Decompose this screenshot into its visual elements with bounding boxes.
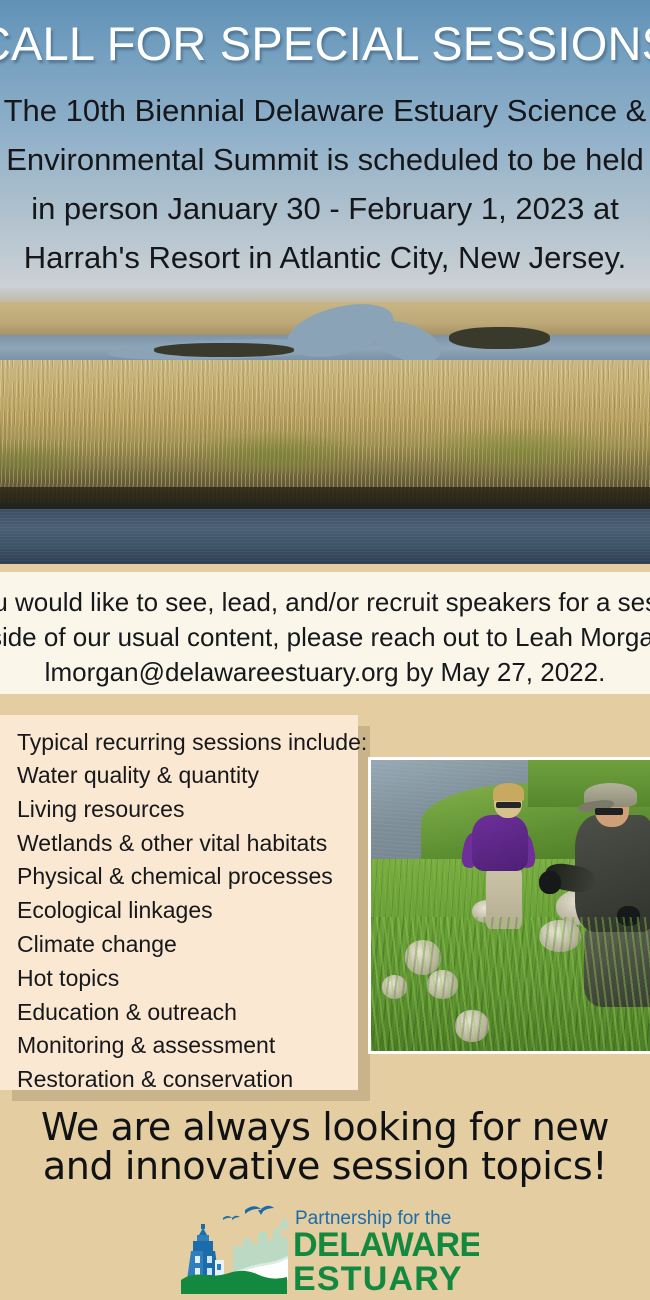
list-item: Water quality & quantity (17, 759, 357, 793)
marsh-dark-patch (449, 327, 550, 349)
partnership-delaware-estuary-logo: Partnership for the DELAWARE ESTUARY (179, 1204, 479, 1296)
tagline-line-1: We are always looking for new (0, 1108, 650, 1147)
tagline-line-2: and innovative session topics! (0, 1147, 650, 1186)
list-item: Restoration & conservation (17, 1063, 357, 1097)
list-item: Physical & chemical processes (17, 860, 357, 894)
flyer-canvas: CALL FOR SPECIAL SESSIONS The 10th Bienn… (0, 0, 650, 1300)
poster-content: CALL FOR SPECIAL SESSIONS The 10th Bienn… (0, 0, 650, 1300)
session-list-title: Typical recurring sessions include: (17, 725, 367, 759)
logo-svg: Partnership for the DELAWARE ESTUARY (179, 1204, 479, 1296)
header-body-line-1: The 10th Biennial Delaware Estuary Scien… (0, 86, 650, 135)
page-title: CALL FOR SPECIAL SESSIONS (0, 14, 650, 74)
notice-line-2: outside of our usual content, please rea… (0, 620, 650, 655)
people-photo-frame (368, 757, 650, 1054)
marsh-green-tuft (185, 432, 371, 476)
photo-foreground-grass (371, 917, 650, 1051)
work-glove-icon (539, 871, 561, 894)
notice-panel: If you would like to see, lead, and/or r… (0, 572, 650, 694)
woman-hair (493, 783, 524, 800)
list-item: Education & outreach (17, 996, 357, 1030)
marsh-green-tuft (0, 440, 92, 481)
logo-estuary-text: ESTUARY (293, 1260, 463, 1296)
header-body-line-2: Environmental Summit is scheduled to be … (0, 135, 650, 184)
header-body-text: The 10th Biennial Delaware Estuary Scien… (0, 86, 650, 282)
bird-icon (223, 1216, 240, 1220)
grass-base-fill (181, 1288, 287, 1294)
tagline: We are always looking for new and innova… (0, 1108, 650, 1186)
sunglasses-icon (496, 802, 521, 808)
marsh-green-tuft (418, 426, 620, 476)
woman-purple-shirt (472, 815, 528, 870)
logo-delaware-text: DELAWARE (293, 1226, 479, 1264)
people-photo (371, 760, 650, 1051)
list-item: Wetlands & other vital habitats (17, 827, 357, 861)
marsh-photo (0, 288, 650, 564)
list-item: Living resources (17, 793, 357, 827)
marsh-dark-patch (154, 343, 294, 357)
header-sky-banner: CALL FOR SPECIAL SESSIONS The 10th Bienn… (0, 0, 650, 290)
list-item: Ecological linkages (17, 894, 357, 928)
notice-text: If you would like to see, lead, and/or r… (0, 585, 650, 690)
session-list-panel: Typical recurring sessions include: Wate… (0, 715, 358, 1090)
list-item: Hot topics (17, 962, 357, 996)
list-item: Climate change (17, 928, 357, 962)
header-body-line-4: Harrah's Resort in Atlantic City, New Je… (0, 233, 650, 282)
lighthouse-icon (187, 1224, 224, 1280)
session-list-items: Water quality & quantity Living resource… (17, 759, 357, 1097)
marsh-foreground-water (0, 509, 650, 564)
sunglasses-icon (595, 808, 623, 815)
notice-line-1: If you would like to see, lead, and/or r… (0, 585, 650, 620)
list-item: Monitoring & assessment (17, 1029, 357, 1063)
header-body-line-3: in person January 30 - February 1, 2023 … (0, 184, 650, 233)
bird-icon (245, 1206, 274, 1215)
notice-line-3: lmorgan@delawareestuary.org by May 27, 2… (0, 655, 650, 690)
